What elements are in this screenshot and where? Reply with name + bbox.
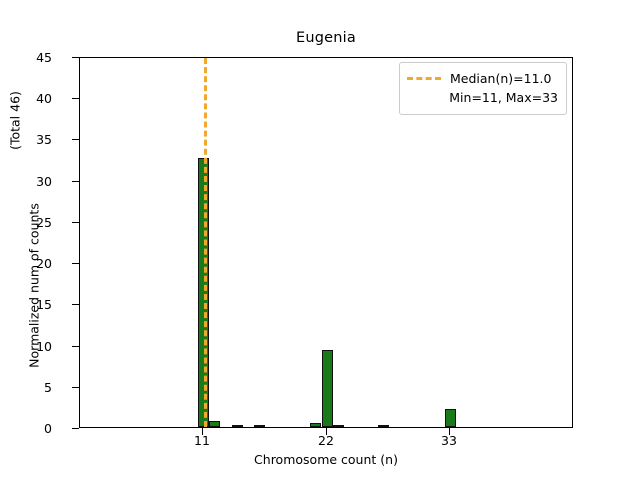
legend: Median(n)=11.0 Min=11, Max=33 xyxy=(399,62,567,115)
median-line xyxy=(204,58,207,427)
ytick-mark-25 xyxy=(72,222,79,223)
bar xyxy=(445,409,456,427)
y-axis-sublabel: (Total 46) xyxy=(8,61,23,181)
bar xyxy=(254,425,265,428)
xtick-label-11: 11 xyxy=(172,433,232,448)
bar xyxy=(378,425,389,428)
ytick-mark-35 xyxy=(72,139,79,140)
ytick-mark-30 xyxy=(72,181,79,182)
xtick-label-22: 22 xyxy=(296,433,356,448)
ytick-mark-15 xyxy=(72,304,79,305)
bar xyxy=(209,421,220,427)
legend-row-median: Median(n)=11.0 xyxy=(407,69,559,88)
ytick-mark-20 xyxy=(72,263,79,264)
dashed-line-icon xyxy=(407,77,441,80)
ytick-label-0: 0 xyxy=(12,421,52,436)
bar xyxy=(310,423,321,427)
legend-row-range: Min=11, Max=33 xyxy=(407,88,559,107)
bar xyxy=(232,425,243,428)
page-title: Eugenia xyxy=(79,30,573,46)
bar xyxy=(322,350,333,427)
ytick-mark-40 xyxy=(72,98,79,99)
legend-label-median: Median(n)=11.0 xyxy=(450,71,551,86)
xtick-label-33: 33 xyxy=(419,433,479,448)
y-axis-label: Normalized num of counts xyxy=(27,156,42,416)
x-axis-label: Chromosome count (n) xyxy=(79,452,573,467)
ytick-mark-5 xyxy=(72,387,79,388)
legend-label-range: Min=11, Max=33 xyxy=(449,90,558,105)
ytick-mark-10 xyxy=(72,346,79,347)
ytick-mark-0 xyxy=(72,428,79,429)
ytick-mark-45 xyxy=(72,57,79,58)
figure-canvas: Eugenia 45 40 35 30 25 20 15 10 5 0 11 2… xyxy=(0,0,640,480)
bar xyxy=(333,425,344,428)
